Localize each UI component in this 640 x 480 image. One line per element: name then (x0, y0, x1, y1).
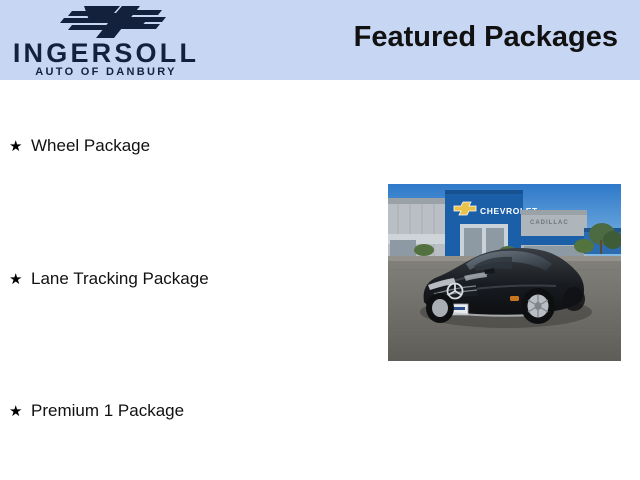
dealer-logo: INGERSOLL AUTO OF DANBURY (6, 3, 206, 79)
ingersoll-wings-emblem-icon (50, 5, 166, 39)
header-band: INGERSOLL AUTO OF DANBURY Featured Packa… (0, 0, 640, 80)
package-label: Lane Tracking Package (31, 269, 209, 289)
star-bullet-icon: ★ (9, 137, 31, 157)
list-item: ★ Premium 1 Package (9, 401, 184, 422)
logo-wordmark: INGERSOLL (6, 40, 206, 67)
featured-packages-list: ★ Wheel Package ★ Lane Tracking Package … (0, 80, 380, 480)
page-title: Featured Packages (354, 20, 618, 54)
svg-text:CADILLAC: CADILLAC (530, 220, 569, 226)
package-label: Wheel Package (31, 136, 150, 156)
slide-featured-packages: INGERSOLL AUTO OF DANBURY Featured Packa… (0, 0, 640, 480)
star-bullet-icon: ★ (9, 402, 31, 422)
package-label: Premium 1 Package (31, 401, 184, 421)
star-bullet-icon: ★ (9, 270, 31, 290)
logo-tagline: AUTO OF DANBURY (6, 67, 206, 78)
vehicle-photo: CHEVROLET CADILLAC (388, 184, 621, 361)
list-item: ★ Wheel Package (9, 136, 150, 157)
list-item: ★ Lane Tracking Package (9, 269, 209, 290)
